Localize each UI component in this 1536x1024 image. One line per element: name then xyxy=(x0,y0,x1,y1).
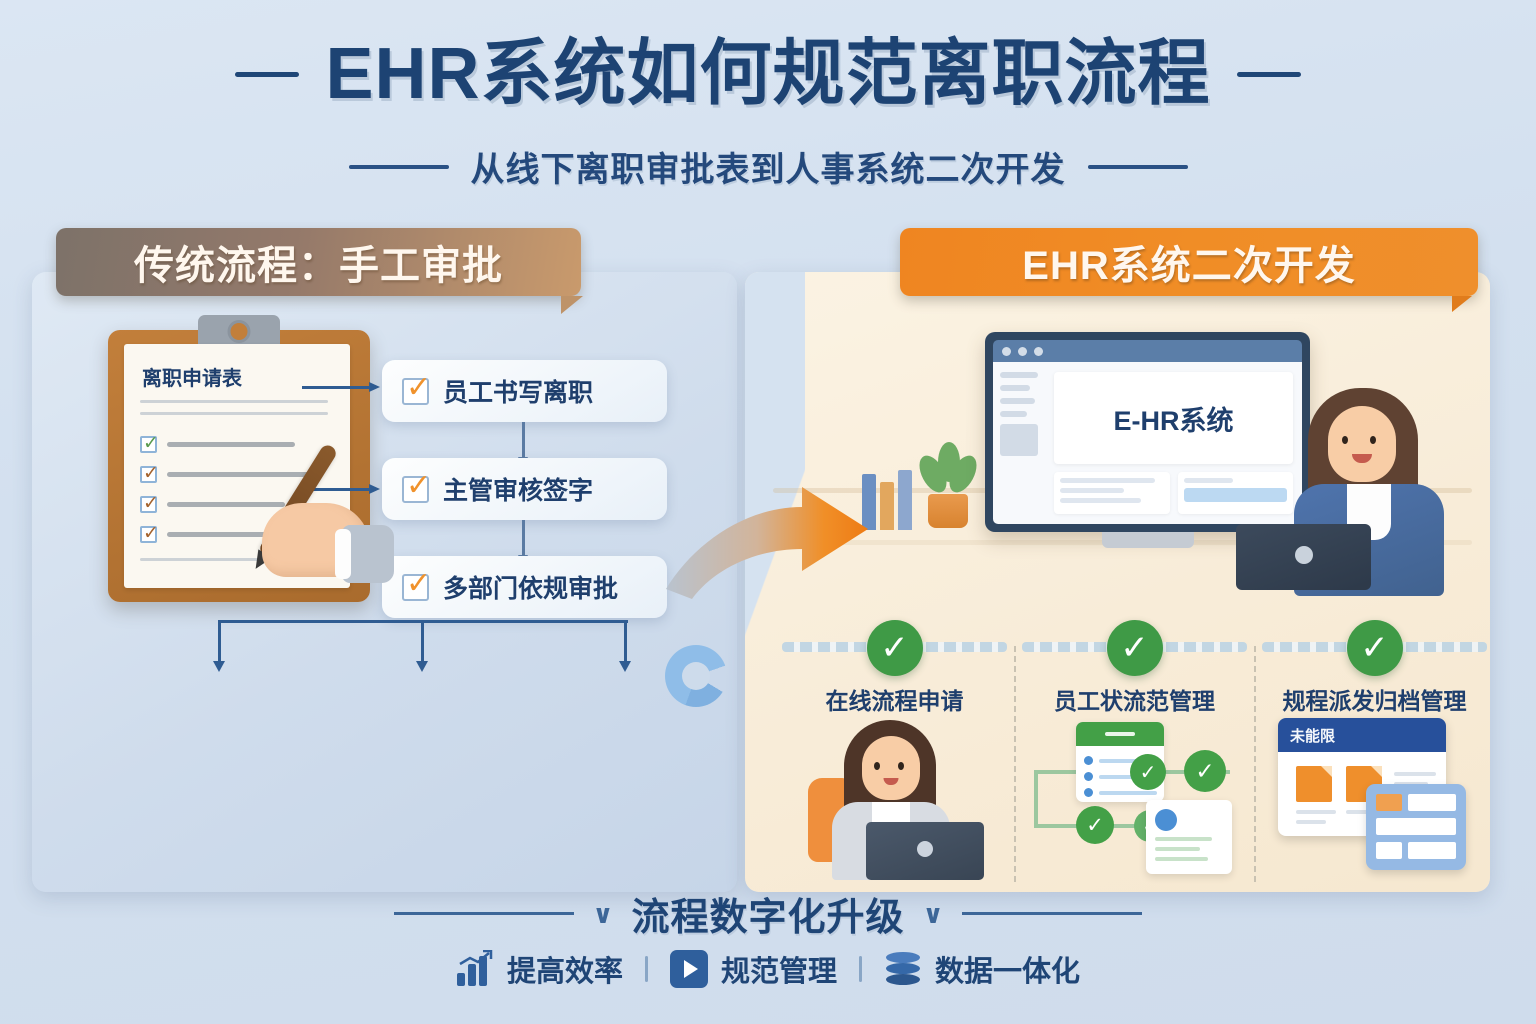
clipboard-item xyxy=(140,436,295,453)
window-dot xyxy=(1034,347,1043,356)
checkbox-checked-icon xyxy=(140,526,157,543)
archive-widget-card xyxy=(1366,784,1466,870)
benefit-label: 员工状流范管理 xyxy=(1022,682,1247,716)
bracket-drop-right xyxy=(624,620,627,662)
monitor-titlebar xyxy=(993,340,1302,362)
header-bar xyxy=(1105,732,1135,736)
process-step-2[interactable]: 主管审核签字 xyxy=(382,458,667,520)
hand-with-pen-illustration xyxy=(250,455,395,585)
widget-thumb xyxy=(1376,794,1402,811)
subtitle-row: 从线下离职审批表到人事系统二次开发 xyxy=(0,142,1536,191)
footer-divider xyxy=(859,956,862,982)
widget-row xyxy=(1376,794,1456,811)
window-dot xyxy=(1018,347,1027,356)
footer-item-label: 数据一体化 xyxy=(935,948,1080,990)
subtitle-rule-left xyxy=(349,165,449,169)
widget-row xyxy=(1376,842,1456,859)
title-row: EHR系统如何规范离职流程 xyxy=(0,38,1536,110)
plant-decor-icon xyxy=(920,440,976,528)
archive-line xyxy=(1296,820,1326,824)
sidebar-line xyxy=(1000,411,1027,417)
widget-bar xyxy=(1408,842,1456,859)
clipboard-item-line xyxy=(167,442,295,447)
traditional-process-tag: 传统流程：手工审批 xyxy=(56,228,581,296)
avatar xyxy=(1155,809,1177,831)
woman-at-laptop-illustration xyxy=(1288,380,1478,610)
monitor-hero-card: E-HR系统 xyxy=(1054,372,1293,464)
bracket-step3-to-people xyxy=(218,620,628,670)
bar-chart-growth-icon xyxy=(456,950,494,988)
check-circle-icon: ✓ xyxy=(1130,754,1166,790)
archive-line xyxy=(1394,772,1436,776)
widget-bar xyxy=(1408,794,1456,811)
chevron-down-icon: ∨ xyxy=(592,901,613,927)
figure-mouth xyxy=(884,778,899,785)
document-file-icon xyxy=(1296,766,1332,802)
checkbox-checked-icon xyxy=(140,466,157,483)
footer-items: 提高效率 规范管理 数据一体化 xyxy=(0,948,1536,990)
card-line xyxy=(1184,478,1234,483)
monitor-stand xyxy=(1102,532,1194,548)
bullet-dot-icon xyxy=(1084,756,1093,765)
footer-item-data[interactable]: 数据一体化 xyxy=(884,948,1080,990)
flow-connector xyxy=(1034,770,1038,828)
doc-line xyxy=(1155,837,1212,841)
connector-step2-step3 xyxy=(522,520,525,556)
shirt-cuff xyxy=(342,525,394,583)
benefit-label: 规程派发归档管理 xyxy=(1262,682,1487,716)
figure-eye-left xyxy=(874,762,880,770)
approval-line xyxy=(1099,791,1157,795)
checkbox-checked-icon xyxy=(402,378,429,405)
process-step-label: 主管审核签字 xyxy=(443,471,593,507)
connector-clipboard-to-step1 xyxy=(302,386,370,389)
widget-bar xyxy=(1376,818,1456,835)
title-rule-left xyxy=(235,72,299,77)
clipboard-title: 离职申请表 xyxy=(142,362,242,391)
plant-pot xyxy=(928,494,968,528)
checkbox-checked-icon xyxy=(402,574,429,601)
monitor-card xyxy=(1054,472,1170,514)
chevron-down-icon: ∨ xyxy=(923,901,944,927)
benefit-column-3[interactable]: ✓ 规程派发归档管理 未能限 xyxy=(1262,620,1487,890)
archive-card-header: 未能限 xyxy=(1278,718,1446,752)
checkbox-checked-icon xyxy=(140,496,157,513)
refresh-circle-icon xyxy=(665,645,727,707)
clipboard-item xyxy=(140,526,267,543)
woman-at-desk-illustration xyxy=(810,720,978,880)
monitor-sidebar xyxy=(993,362,1045,524)
woman-laptop-icon xyxy=(1236,524,1371,590)
bracket-drop-center xyxy=(421,620,424,662)
flow-connector xyxy=(1034,770,1078,774)
doc-line xyxy=(1155,847,1200,851)
check-circle-icon: ✓ xyxy=(1347,620,1403,676)
page-subtitle: 从线下离职审批表到人事系统二次开发 xyxy=(471,142,1066,191)
flowchart-approval-illustration: ✓ ✓ ✓ ✓ xyxy=(1034,718,1239,883)
figure-eye-right xyxy=(898,762,904,770)
woman-eye-left xyxy=(1342,436,1348,444)
footer-item-label: 规范管理 xyxy=(721,948,837,990)
monitor-screen: E-HR系统 xyxy=(993,362,1302,524)
card-line xyxy=(1060,488,1124,493)
bullet-dot-icon xyxy=(1084,788,1093,797)
card-line xyxy=(1060,498,1141,503)
curved-right-arrow-icon xyxy=(660,485,875,605)
title-rule-right xyxy=(1237,72,1301,77)
benefits-row: ✓ 在线流程申请 ✓ 员工状流范管理 xyxy=(782,620,1482,890)
ehr-system-tag: EHR系统二次开发 xyxy=(900,228,1478,296)
widget-row xyxy=(1376,818,1456,835)
subtitle-rule-right xyxy=(1088,165,1188,169)
page-title: EHR系统如何规范离职流程 xyxy=(325,38,1210,110)
check-circle-icon: ✓ xyxy=(867,620,923,676)
footer-rule-right xyxy=(962,912,1142,915)
clipboard-rule-1 xyxy=(140,400,328,403)
window-dot xyxy=(1002,347,1011,356)
monitor-bottom-row xyxy=(1054,472,1293,514)
book-icon xyxy=(898,470,912,530)
woman-eye-right xyxy=(1370,436,1376,444)
woman-mouth xyxy=(1352,454,1372,463)
footer-item-standardize[interactable]: 规范管理 xyxy=(670,948,837,990)
footer-title-row: ∨ 流程数字化升级 ∨ xyxy=(0,886,1536,941)
ehr-system-screen-title: E-HR系统 xyxy=(1114,399,1234,438)
check-circle-icon: ✓ xyxy=(1184,750,1226,792)
checkbox-checked-icon xyxy=(402,476,429,503)
approval-card-header xyxy=(1076,722,1164,746)
process-step-label: 多部门依规审批 xyxy=(443,569,618,605)
archive-line xyxy=(1296,810,1336,814)
footer-item-label: 提高效率 xyxy=(507,948,623,990)
footer-divider xyxy=(645,956,648,982)
archive-card-title: 未能限 xyxy=(1290,725,1335,746)
footer-item-efficiency[interactable]: 提高效率 xyxy=(456,948,623,990)
monitor-card xyxy=(1178,472,1294,514)
benefit-column-2[interactable]: ✓ 员工状流范管理 xyxy=(1022,620,1247,890)
checkbox-checked-icon xyxy=(140,436,157,453)
sidebar-line xyxy=(1000,372,1038,378)
widget-thumb xyxy=(1376,842,1402,859)
laptop-icon xyxy=(866,822,984,880)
book-icon xyxy=(880,482,894,530)
benefit-divider-1 xyxy=(1014,646,1016,882)
benefit-column-1[interactable]: ✓ 在线流程申请 xyxy=(782,620,1007,890)
footer-rule-left xyxy=(394,912,574,915)
check-circle-icon: ✓ xyxy=(1107,620,1163,676)
play-button-icon xyxy=(670,950,708,988)
database-stack-icon xyxy=(884,950,922,988)
page-footer: ∨ 流程数字化升级 ∨ 提高效率 规范管理 数据一体化 xyxy=(0,886,1536,1024)
footer-title: 流程数字化升级 xyxy=(631,886,904,941)
process-step-1[interactable]: 员工书写离职 xyxy=(382,360,667,422)
document-archive-card-illustration: 未能限 xyxy=(1278,718,1476,878)
woman-face xyxy=(1328,406,1396,482)
desktop-monitor-icon: E-HR系统 xyxy=(985,332,1310,532)
bracket-drop-left xyxy=(218,620,221,662)
benefit-divider-2 xyxy=(1254,646,1256,882)
process-step-label: 员工书写离职 xyxy=(443,373,593,409)
card-accent-bar xyxy=(1184,488,1288,502)
figure-face xyxy=(862,736,920,800)
sidebar-line xyxy=(1000,385,1030,391)
clipboard-rule-2 xyxy=(140,412,328,415)
sidebar-line xyxy=(1000,398,1035,404)
sidebar-block xyxy=(1000,424,1038,456)
benefit-label: 在线流程申请 xyxy=(782,682,1007,716)
doc-line xyxy=(1155,857,1208,861)
bullet-dot-icon xyxy=(1084,772,1093,781)
page-header: EHR系统如何规范离职流程 从线下离职审批表到人事系统二次开发 xyxy=(0,0,1536,210)
profile-document-card xyxy=(1146,800,1232,874)
monitor-main: E-HR系统 xyxy=(1045,362,1302,524)
process-step-3[interactable]: 多部门依规审批 xyxy=(382,556,667,618)
check-circle-icon: ✓ xyxy=(1076,806,1114,844)
card-line xyxy=(1060,478,1155,483)
connector-step1-step2 xyxy=(522,422,525,458)
